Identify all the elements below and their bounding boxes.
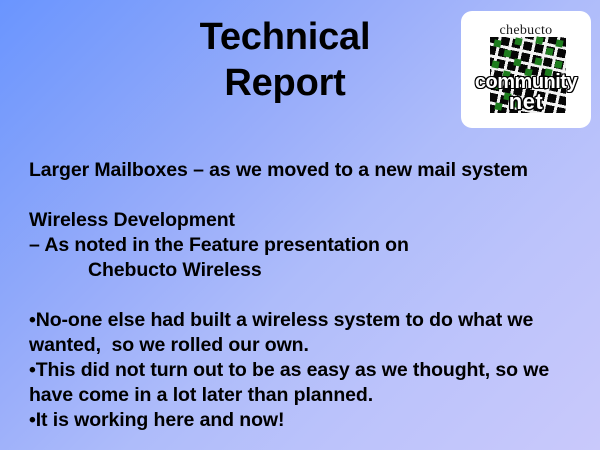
body-wireless-indent: Chebucto Wireless <box>29 258 574 283</box>
body-spacer-2 <box>29 283 574 308</box>
body-bullet-2: •This did not turn out to be as easy as … <box>29 358 574 408</box>
body-wireless-note: – As noted in the Feature presentation o… <box>29 233 574 258</box>
body-spacer-1 <box>29 183 574 208</box>
body-bullet-1: •No-one else had built a wireless system… <box>29 308 574 358</box>
slide-canvas: Technical Report <box>0 0 600 450</box>
slide-title: Technical Report <box>120 14 450 106</box>
logo-text-net: net <box>461 89 591 115</box>
body-mailbox-line: Larger Mailboxes – as we moved to a new … <box>29 158 574 183</box>
logo-artwork: chebucto community net <box>461 11 591 128</box>
body-wireless-heading: Wireless Development <box>29 208 574 233</box>
logo-text-chebucto: chebucto <box>461 23 591 39</box>
body-bullet-3: •It is working here and now! <box>29 408 574 433</box>
title-line-2: Report <box>120 60 450 106</box>
chebucto-community-net-logo: chebucto community net <box>461 11 591 128</box>
slide-body: Larger Mailboxes – as we moved to a new … <box>29 158 574 433</box>
title-line-1: Technical <box>120 14 450 60</box>
